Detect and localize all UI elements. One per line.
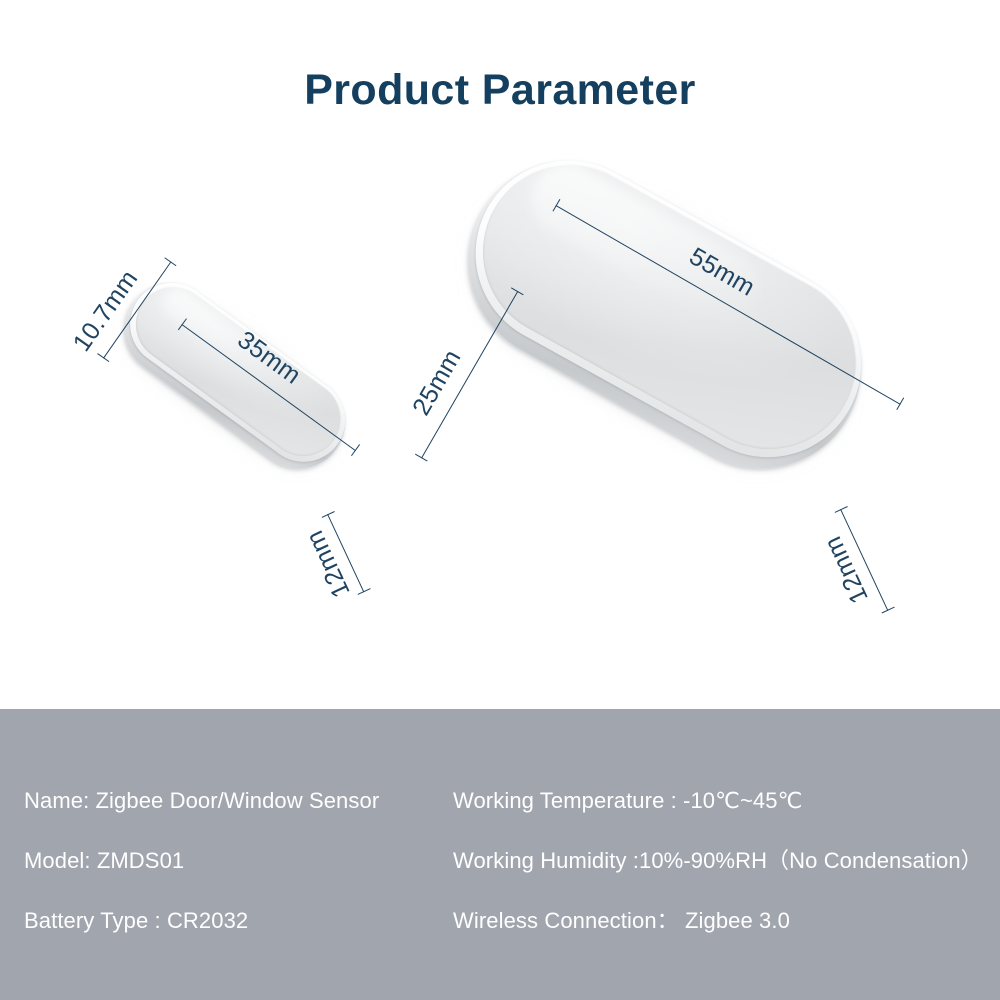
spec-row-working-humidity: Working Humidity :10%-90%RH（No Condensat… (453, 831, 983, 891)
dimension-tick-end (164, 257, 176, 266)
spec-row-battery-type: Battery Type : CR2032 (24, 891, 379, 951)
spec-column-right: Working Temperature : -10℃~45℃ Working H… (453, 771, 983, 951)
dimension-tick-start (415, 454, 428, 462)
spec-row-working-temperature: Working Temperature : -10℃~45℃ (453, 771, 983, 831)
dimension-tick-start (97, 353, 109, 362)
dimension-label-large-width: 25mm (407, 345, 467, 421)
page-title: Product Parameter (0, 66, 1000, 115)
dimension-label-large-thickness: 12mm (819, 531, 875, 607)
dimension-small-thickness: 12mm (328, 514, 364, 592)
specification-band: Name: Zigbee Door/Window Sensor Model: Z… (0, 709, 1000, 1000)
spec-row-model: Model: ZMDS01 (24, 831, 379, 891)
product-parameter-page: Product Parameter 10.7mm 35mm (0, 0, 1000, 1000)
spec-row-name: Name: Zigbee Door/Window Sensor (24, 771, 379, 831)
dimension-tick-end (882, 607, 895, 614)
dimension-large-thickness: 12mm (841, 509, 888, 611)
spec-column-left: Name: Zigbee Door/Window Sensor Model: Z… (24, 771, 379, 951)
dimension-tick-end (351, 444, 360, 456)
dimension-label-small-thickness: 12mm (301, 526, 357, 602)
spec-row-wireless-connection: Wireless Connection： Zigbee 3.0 (453, 891, 983, 951)
product-illustration: 10.7mm 35mm 12mm (0, 150, 1000, 710)
dimension-tick-end (358, 588, 371, 595)
